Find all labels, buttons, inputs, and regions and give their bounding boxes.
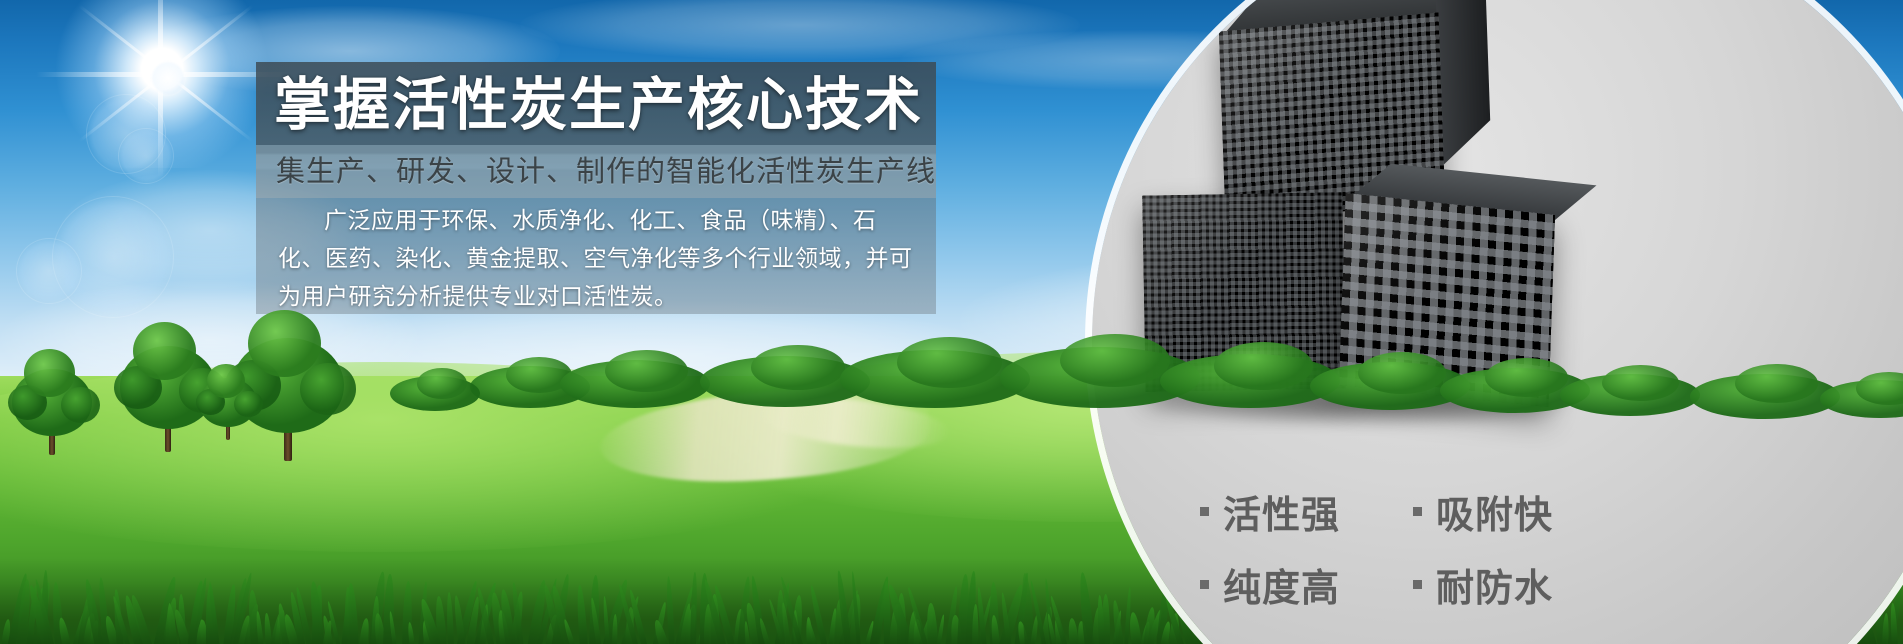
block-sheen bbox=[1339, 193, 1555, 407]
feature-item: 纯度高 bbox=[1200, 557, 1407, 612]
grass-blade bbox=[575, 585, 587, 644]
feature-label: 纯度高 bbox=[1223, 557, 1340, 612]
grass-blade bbox=[263, 613, 271, 644]
feature-label: 活性强 bbox=[1223, 484, 1340, 539]
tree-trunk bbox=[49, 426, 54, 455]
carbon-block-left bbox=[1142, 192, 1345, 391]
page-title: 掌握活性炭生产核心技术 bbox=[274, 74, 924, 136]
carbon-block-side-face bbox=[1435, 0, 1490, 167]
feature-item: 吸附快 bbox=[1413, 484, 1620, 539]
bullet-square-icon bbox=[1413, 580, 1422, 589]
feature-list: 活性强吸附快纯度高耐防水 bbox=[1200, 484, 1620, 612]
grass-blade bbox=[407, 622, 415, 644]
feature-label: 吸附快 bbox=[1436, 484, 1553, 539]
tree-trunk bbox=[165, 417, 171, 453]
grass-blade bbox=[1128, 612, 1142, 644]
block-sheen bbox=[1142, 192, 1345, 391]
grass-blade bbox=[666, 576, 676, 644]
subtitle-text: 集生产、研发、设计、制作的智能化活性炭生产线 bbox=[276, 150, 926, 192]
bullet-square-icon bbox=[1413, 507, 1422, 516]
tree-trunk bbox=[284, 419, 291, 460]
grass-blade bbox=[435, 595, 447, 644]
feature-item: 活性强 bbox=[1200, 484, 1407, 539]
bullet-square-icon bbox=[1200, 580, 1209, 589]
description-text: 广泛应用于环保、水质净化、化工、食品（味精）、石化、医药、染化、黄金提取、空气净… bbox=[278, 202, 916, 316]
product-showcase-circle: 活性强吸附快纯度高耐防水 bbox=[1092, 0, 1903, 644]
bullet-square-icon bbox=[1200, 507, 1209, 516]
tree-trunk bbox=[226, 419, 230, 440]
feature-item: 耐防水 bbox=[1413, 557, 1620, 612]
grass-blade bbox=[1102, 594, 1111, 644]
grass-blade bbox=[446, 592, 454, 644]
feature-label: 耐防水 bbox=[1436, 557, 1553, 612]
carbon-block-right bbox=[1339, 193, 1555, 407]
grass-blade bbox=[936, 614, 946, 644]
grass-blade bbox=[690, 572, 698, 644]
headline-panel: 掌握活性炭生产核心技术 集生产、研发、设计、制作的智能化活性炭生产线 广泛应用于… bbox=[256, 62, 936, 314]
grass-blade bbox=[925, 603, 937, 644]
promo-banner: 掌握活性炭生产核心技术 集生产、研发、设计、制作的智能化活性炭生产线 广泛应用于… bbox=[0, 0, 1903, 644]
